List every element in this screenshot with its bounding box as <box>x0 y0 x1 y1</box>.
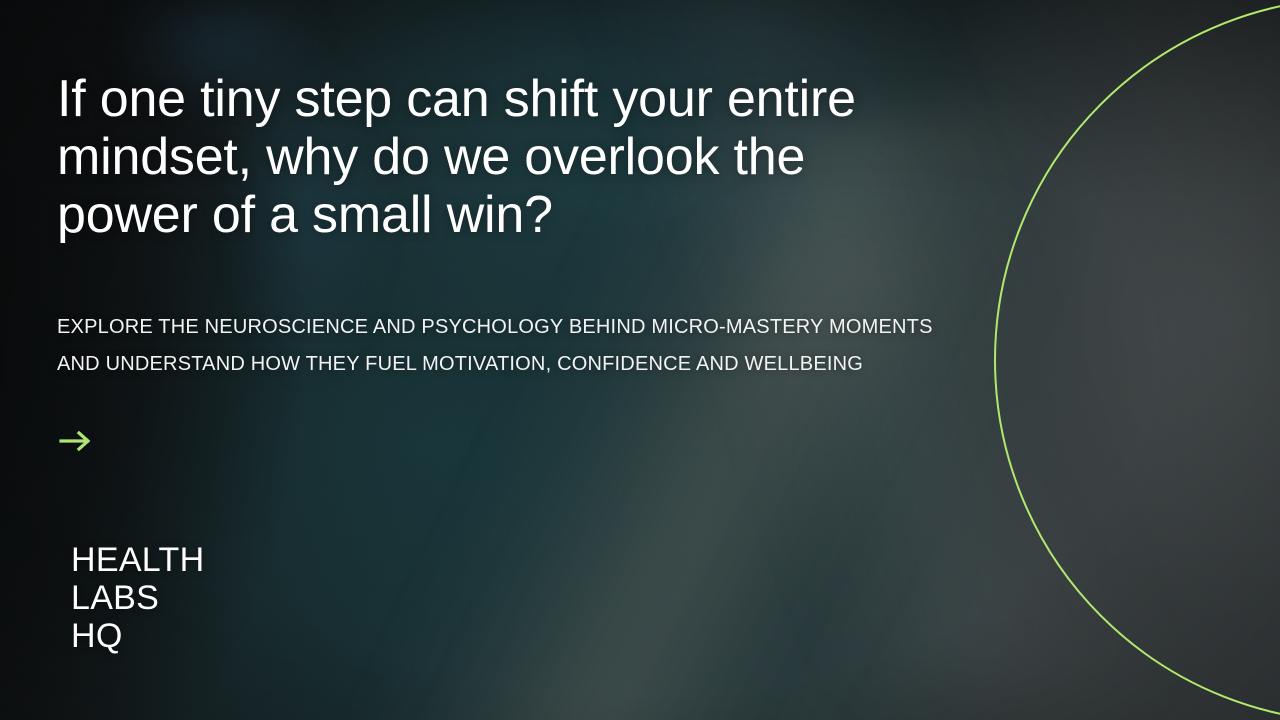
slide-content: If one tiny step can shift your entire m… <box>0 0 1280 720</box>
brand-logo-line-1: HEALTH <box>71 541 204 579</box>
brand-logo: HEALTH LABS HQ <box>71 541 204 655</box>
arrow-right-icon <box>58 426 94 456</box>
page-title: If one tiny step can shift your entire m… <box>57 70 957 244</box>
slide-canvas: If one tiny step can shift your entire m… <box>0 0 1280 720</box>
brand-logo-line-2: LABS <box>71 579 204 617</box>
brand-logo-line-3: HQ <box>71 617 204 655</box>
slide-subtitle: Explore the neuroscience and psychology … <box>57 309 957 383</box>
cta-arrow-button[interactable] <box>58 426 94 456</box>
